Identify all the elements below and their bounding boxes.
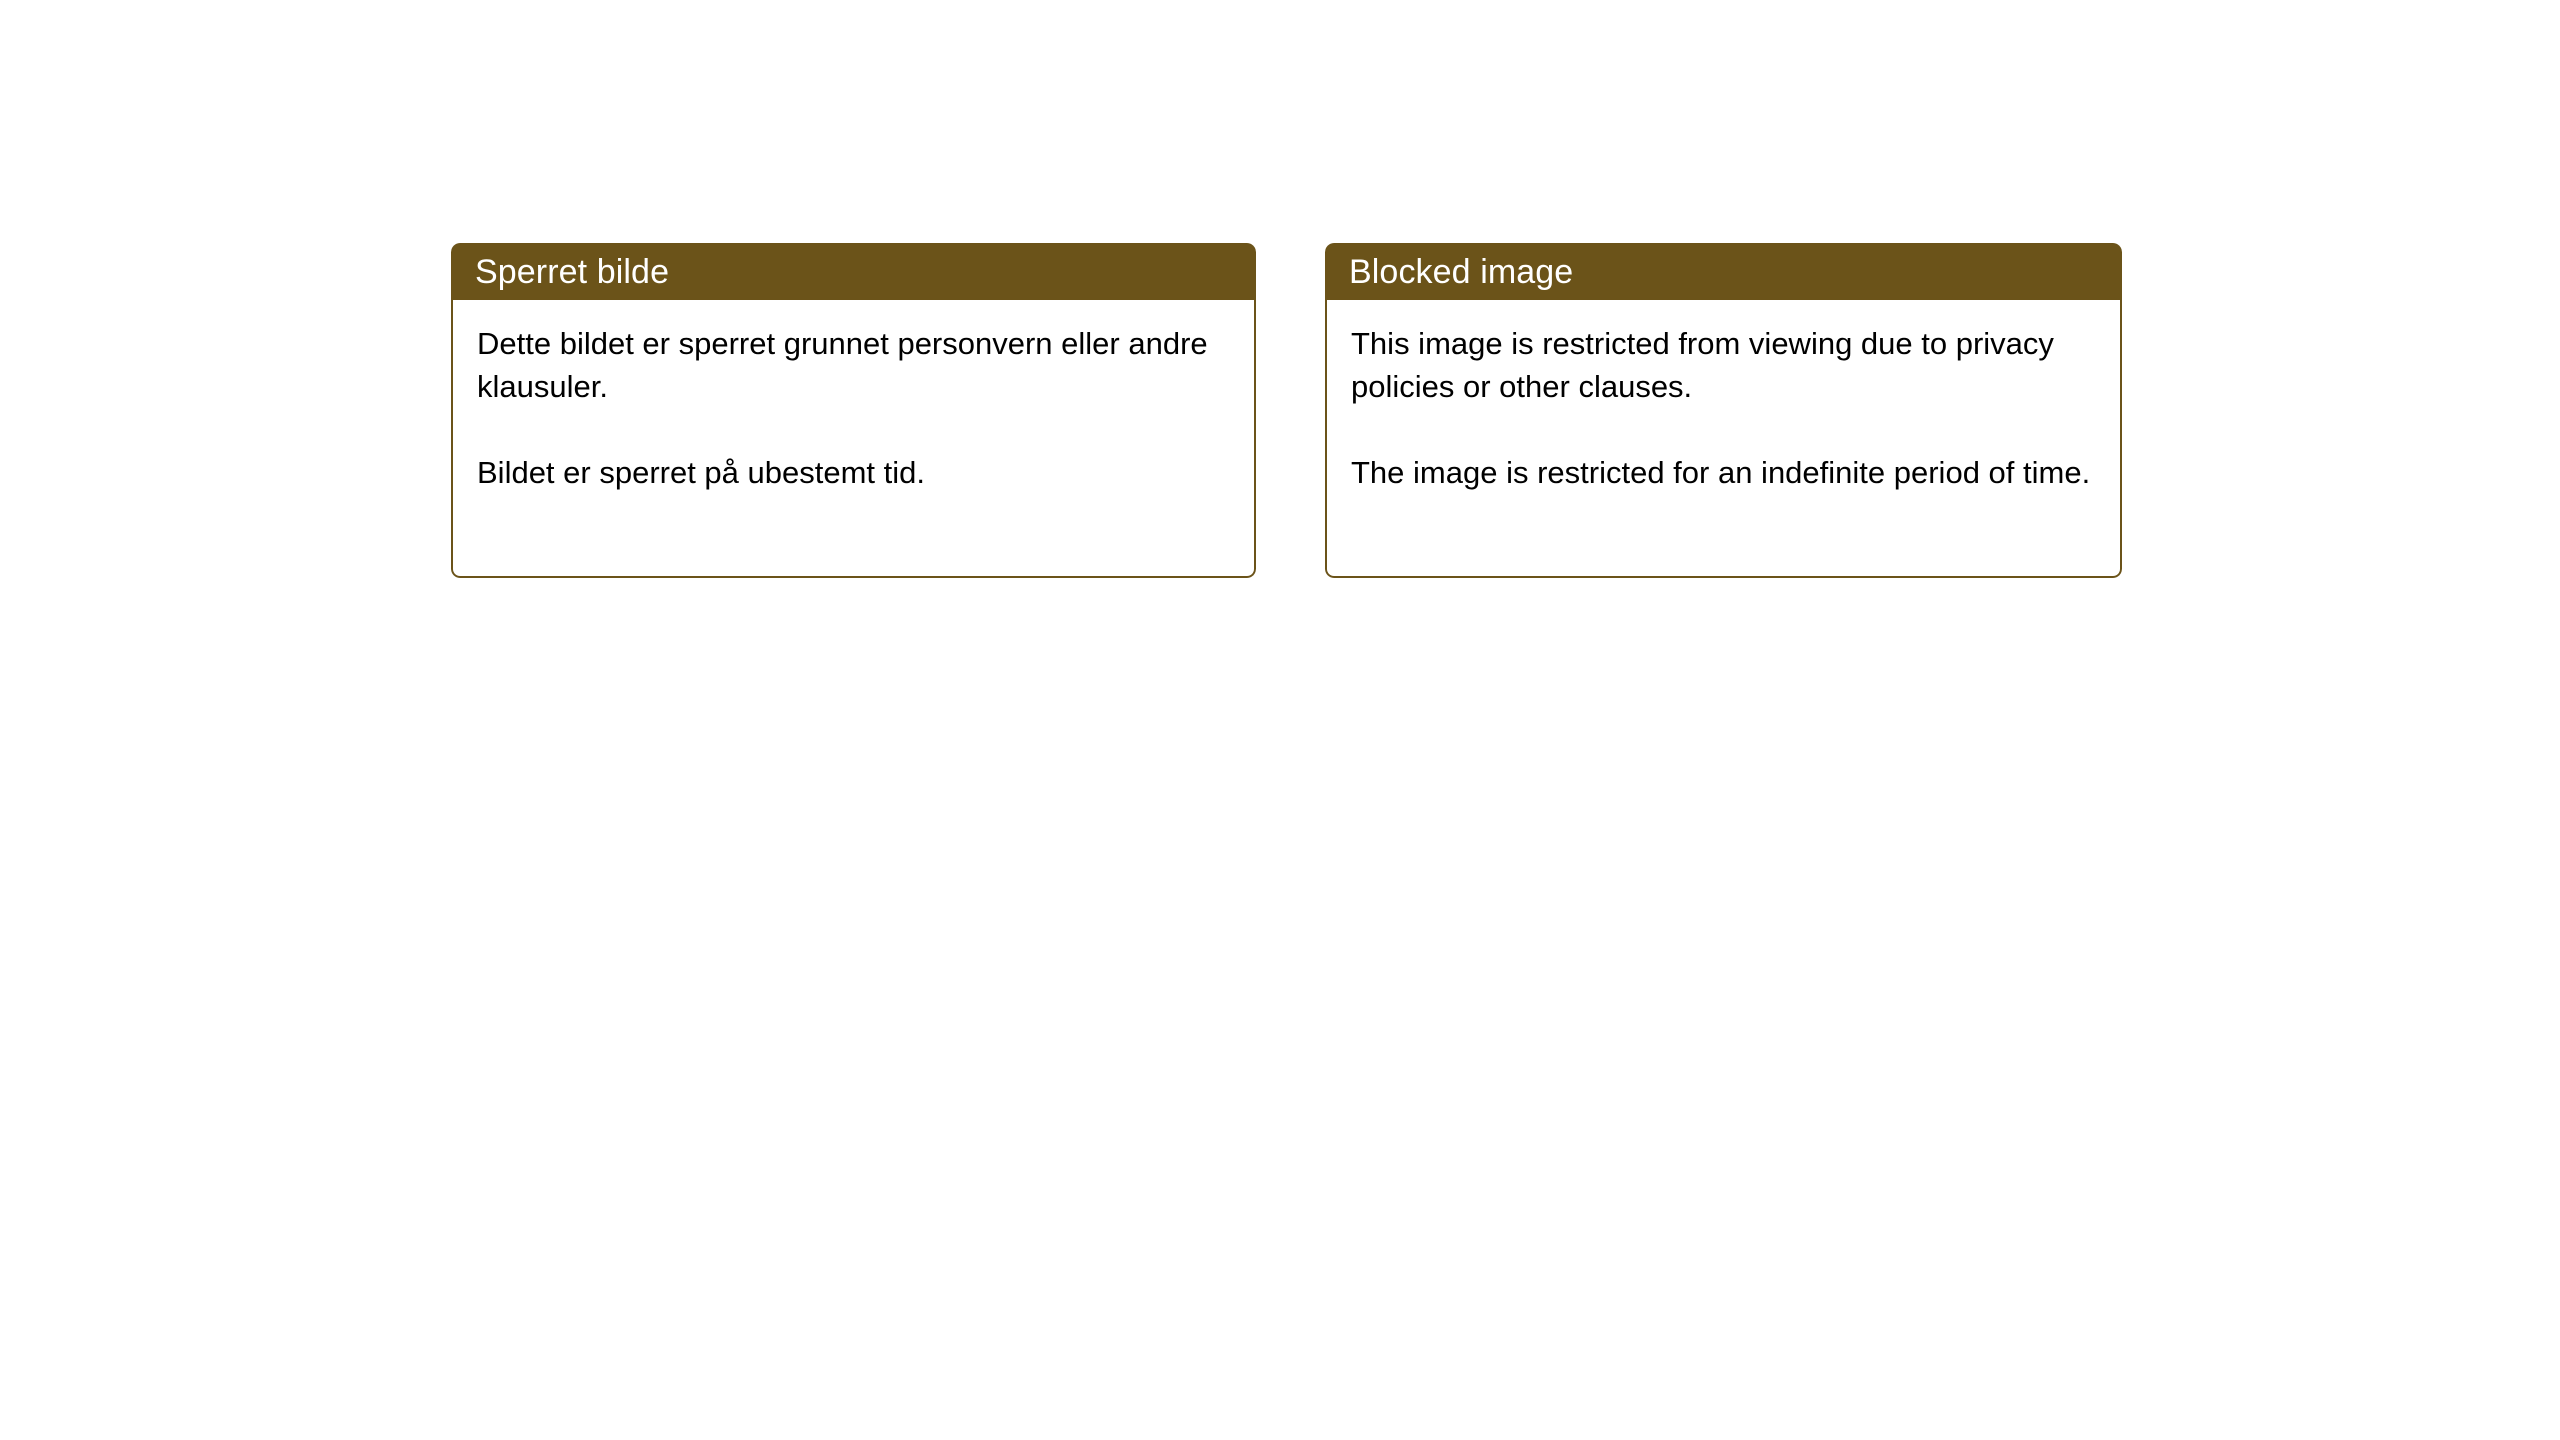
panel-title-norwegian: Sperret bilde: [475, 253, 669, 291]
blocked-image-notice-area: Sperret bilde Dette bildet er sperret gr…: [451, 243, 2122, 578]
panel-paragraph-primary-norwegian: Dette bildet er sperret grunnet personve…: [477, 322, 1234, 408]
panel-title-english: Blocked image: [1349, 253, 1573, 291]
paragraph-spacer: [477, 408, 1234, 451]
panel-paragraph-secondary-norwegian: Bildet er sperret på ubestemt tid.: [477, 451, 1234, 494]
panel-paragraph-secondary-english: The image is restricted for an indefinit…: [1351, 451, 2100, 494]
panel-body-norwegian: Dette bildet er sperret grunnet personve…: [451, 300, 1256, 578]
blocked-image-panel-english: Blocked image This image is restricted f…: [1325, 243, 2122, 578]
paragraph-spacer: [1351, 408, 2100, 451]
blocked-image-panel-norwegian: Sperret bilde Dette bildet er sperret gr…: [451, 243, 1256, 578]
panel-header-norwegian: Sperret bilde: [451, 243, 1256, 300]
panel-header-english: Blocked image: [1325, 243, 2122, 300]
panel-paragraph-primary-english: This image is restricted from viewing du…: [1351, 322, 2100, 408]
panel-body-english: This image is restricted from viewing du…: [1325, 300, 2122, 578]
